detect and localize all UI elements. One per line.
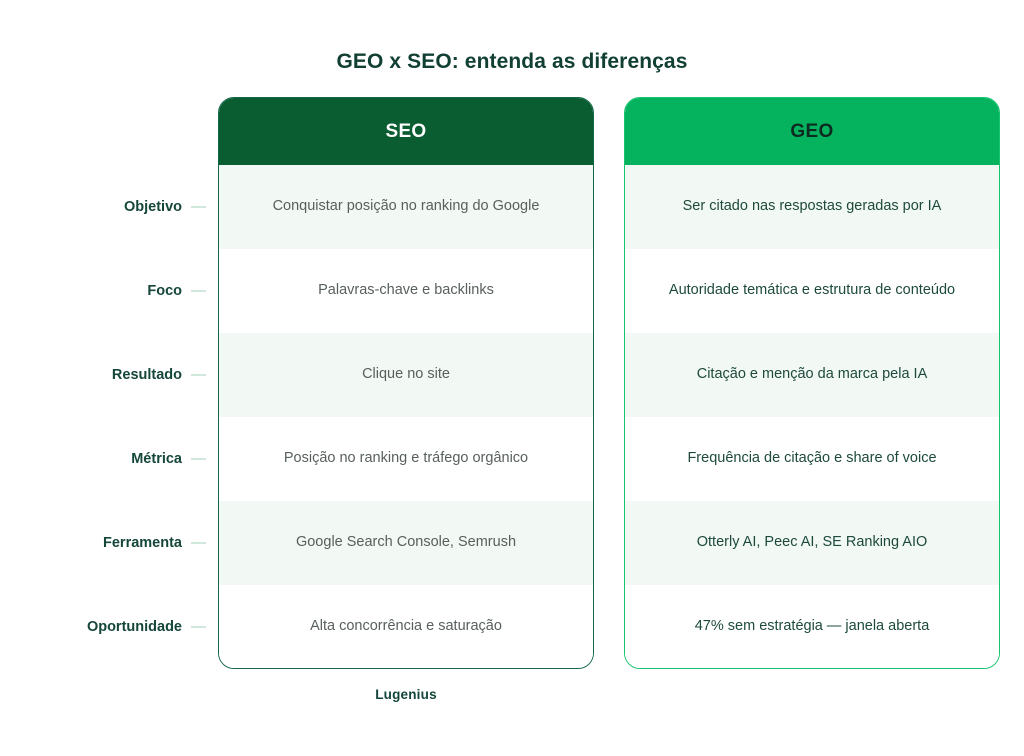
connector-dash-icon xyxy=(191,290,206,292)
table-cell: Alta concorrência e saturação xyxy=(219,585,593,669)
row-label-text: Resultado xyxy=(112,367,182,383)
table-cell: 47% sem estratégia — janela aberta xyxy=(625,585,999,669)
table-cell: Clique no site xyxy=(219,333,593,417)
connector-dash-icon xyxy=(191,542,206,544)
row-label-rail: Objetivo Foco Resultado Métrica Ferramen… xyxy=(0,165,218,669)
row-label-text: Ferramenta xyxy=(103,535,182,551)
comparison-infographic: GEO x SEO: entenda as diferenças Objetiv… xyxy=(0,0,1024,756)
row-label-text: Métrica xyxy=(131,451,182,467)
table-cell: Conquistar posição no ranking do Google xyxy=(219,165,593,249)
table-cell: Otterly AI, Peec AI, SE Ranking AIO xyxy=(625,501,999,585)
column-body-geo: Ser citado nas respostas geradas por IA … xyxy=(625,165,999,668)
connector-dash-icon xyxy=(191,458,206,460)
connector-dash-icon xyxy=(191,374,206,376)
row-label-oportunidade: Oportunidade xyxy=(0,585,218,669)
row-label-text: Foco xyxy=(147,283,182,299)
column-body-seo: Conquistar posição no ranking do Google … xyxy=(219,165,593,668)
table-cell: Palavras-chave e backlinks xyxy=(219,249,593,333)
row-label-foco: Foco xyxy=(0,249,218,333)
column-header-seo: SEO xyxy=(219,98,593,165)
table-cell: Frequência de citação e share of voice xyxy=(625,417,999,501)
table-cell: Google Search Console, Semrush xyxy=(219,501,593,585)
column-card-seo: SEO Conquistar posição no ranking do Goo… xyxy=(218,97,594,669)
connector-dash-icon xyxy=(191,626,206,628)
row-label-objetivo: Objetivo xyxy=(0,165,218,249)
column-card-geo: GEO Ser citado nas respostas geradas por… xyxy=(624,97,1000,669)
table-cell: Citação e menção da marca pela IA xyxy=(625,333,999,417)
connector-dash-icon xyxy=(191,206,206,208)
row-label-ferramenta: Ferramenta xyxy=(0,501,218,585)
table-cell: Ser citado nas respostas geradas por IA xyxy=(625,165,999,249)
table-cell: Posição no ranking e tráfego orgânico xyxy=(219,417,593,501)
row-label-text: Oportunidade xyxy=(87,619,182,635)
page-title: GEO x SEO: entenda as diferenças xyxy=(0,50,1024,74)
column-header-geo: GEO xyxy=(625,98,999,165)
brand-credit: Lugenius xyxy=(218,687,594,702)
row-label-resultado: Resultado xyxy=(0,333,218,417)
row-label-text: Objetivo xyxy=(124,199,182,215)
row-label-metrica: Métrica xyxy=(0,417,218,501)
table-cell: Autoridade temática e estrutura de conte… xyxy=(625,249,999,333)
